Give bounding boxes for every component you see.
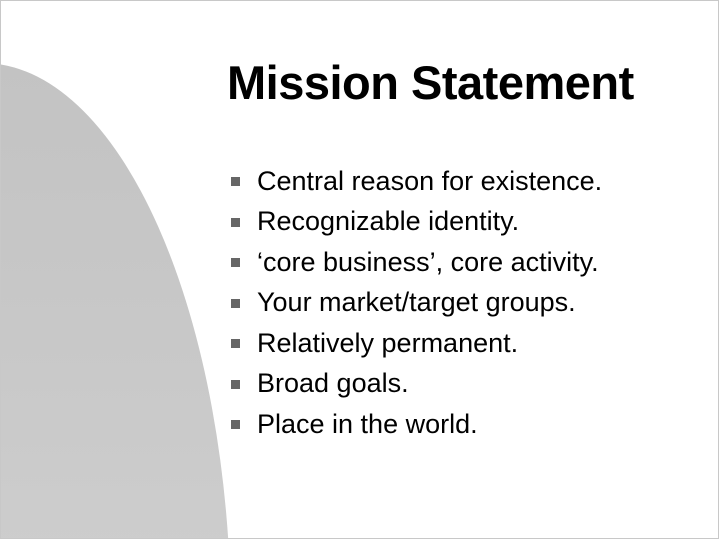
- list-item-label: Place in the world.: [257, 411, 478, 438]
- square-bullet-icon: [231, 299, 240, 308]
- list-item-label: ‘core business’, core activity.: [257, 249, 599, 276]
- list-item: ‘core business’, core activity.: [231, 242, 701, 283]
- list-item: Central reason for existence.: [231, 161, 701, 202]
- list-item-label: Broad goals.: [257, 370, 409, 397]
- list-item-label: Your market/target groups.: [257, 289, 576, 316]
- list-item-label: Central reason for existence.: [257, 168, 602, 195]
- square-bullet-icon: [231, 177, 240, 186]
- square-bullet-icon: [231, 420, 240, 429]
- square-bullet-icon: [231, 258, 240, 267]
- list-item: Relatively permanent.: [231, 323, 701, 364]
- slide-title: Mission Statement: [227, 59, 697, 106]
- square-bullet-icon: [231, 380, 240, 389]
- presentation-slide: Mission Statement Central reason for exi…: [0, 0, 719, 539]
- bullet-list: Central reason for existence. Recognizab…: [231, 161, 701, 445]
- square-bullet-icon: [231, 339, 240, 348]
- list-item-label: Recognizable identity.: [257, 208, 519, 235]
- list-item: Recognizable identity.: [231, 202, 701, 243]
- list-item: Place in the world.: [231, 404, 701, 445]
- square-bullet-icon: [231, 218, 240, 227]
- list-item-label: Relatively permanent.: [257, 330, 518, 357]
- list-item: Broad goals.: [231, 364, 701, 405]
- list-item: Your market/target groups.: [231, 283, 701, 324]
